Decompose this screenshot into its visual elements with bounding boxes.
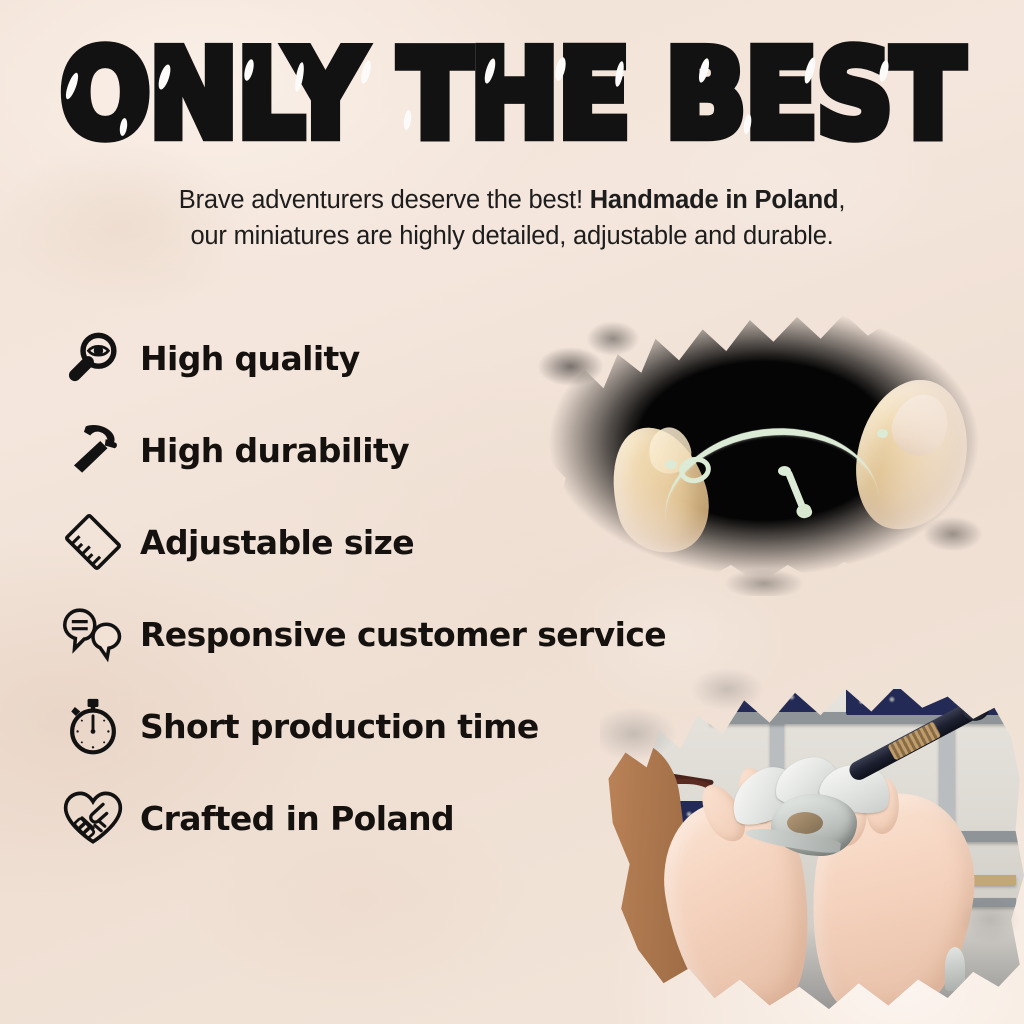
stopwatch-icon	[62, 695, 124, 757]
subtitle-line-1: Brave adventurers deserve the best! Hand…	[0, 182, 1024, 218]
ruler-icon	[62, 511, 124, 573]
hammer-icon	[62, 419, 124, 481]
feature-item-high-durability: High durability	[62, 404, 782, 496]
feature-label: High quality	[140, 339, 360, 378]
subtitle-prefix: Brave adventurers deserve the best!	[179, 186, 590, 214]
feature-label: Responsive customer service	[140, 615, 666, 654]
magnifier-eye-icon	[62, 327, 124, 389]
subtitle-suffix: ,	[838, 186, 845, 214]
subtitle-bold: Handmade in Poland	[590, 186, 839, 214]
standing-miniature	[945, 947, 965, 991]
feature-item-high-quality: High quality	[62, 312, 782, 404]
feature-item-customer-service: Responsive customer service	[62, 588, 782, 680]
finger-right-thumb	[846, 371, 979, 539]
handshake-heart-icon	[62, 787, 124, 849]
feature-label: Short production time	[140, 707, 539, 746]
subtitle: Brave adventurers deserve the best! Hand…	[0, 182, 1024, 254]
feature-list: High quality High durability	[62, 312, 782, 864]
feature-item-production-time: Short production time	[62, 680, 782, 772]
miniature-tray-items-2	[846, 689, 999, 715]
speech-bubbles-icon	[62, 603, 124, 665]
feature-item-adjustable-size: Adjustable size	[62, 496, 782, 588]
miniature-node-3	[877, 429, 888, 438]
page-title-wrap: ONLY THE BEST	[0, 34, 1024, 138]
feature-item-crafted-in-poland: Crafted in Poland	[62, 772, 782, 864]
subtitle-line-2: our miniatures are highly detailed, adju…	[0, 218, 1024, 254]
infographic-canvas: ONLY THE BEST Brave adventurers deserve …	[0, 0, 1024, 1024]
feature-label: Crafted in Poland	[140, 799, 454, 838]
page-title: ONLY THE BEST	[60, 34, 963, 155]
feature-label: Adjustable size	[140, 523, 414, 562]
feature-label: High durability	[140, 431, 409, 470]
